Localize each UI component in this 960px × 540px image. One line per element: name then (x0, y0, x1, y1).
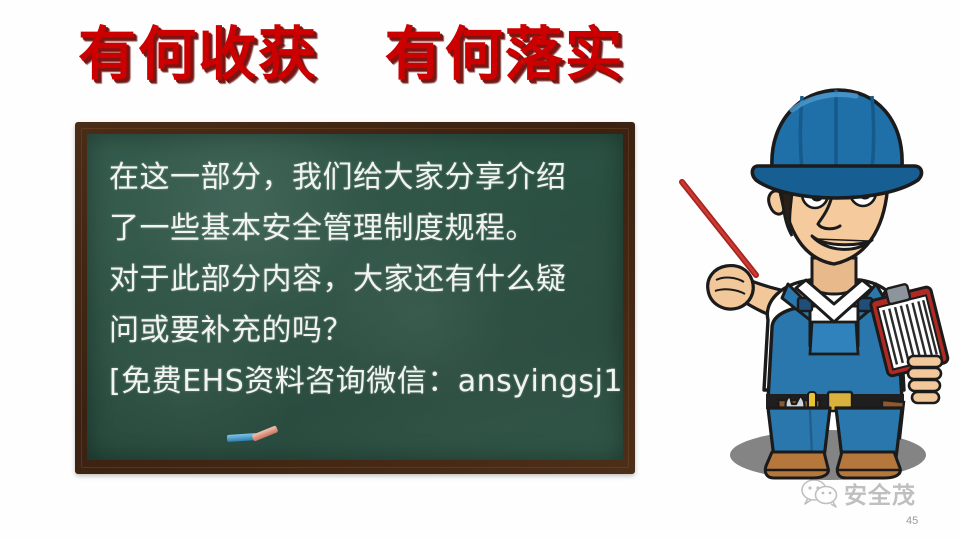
wechat-icon (800, 478, 840, 508)
blackboard-frame: 在这一部分，我们给大家分享介绍 了一些基本安全管理制度规程。 对于此部分内容，大… (75, 122, 635, 474)
board-line-2: 了一些基本安全管理制度规程。 (109, 203, 611, 254)
blackboard-text: 在这一部分，我们给大家分享介绍 了一些基本安全管理制度规程。 对于此部分内容，大… (109, 152, 611, 407)
watermark: 安全茂 (800, 476, 916, 510)
blackboard-surface: 在这一部分，我们给大家分享介绍 了一些基本安全管理制度规程。 对于此部分内容，大… (87, 134, 623, 460)
board-line-3: 对于此部分内容，大家还有什么疑 (109, 254, 611, 305)
board-line-5: [免费EHS资料咨询微信：ansyingsj1] (109, 356, 611, 407)
safety-worker-illustration (660, 70, 960, 490)
page-number: 45 (906, 515, 918, 527)
board-line-1: 在这一部分，我们给大家分享介绍 (109, 152, 611, 203)
watermark-label: 安全茂 (844, 476, 916, 510)
board-line-4: 问或要补充的吗？ (109, 305, 611, 356)
pink-chalk-icon (252, 425, 279, 441)
slide-canvas: 有何收获 有何落实 在这一部分，我们给大家分享介绍 了一些基本安全管理制度规程。… (0, 0, 960, 540)
page-title: 有何收获 有何落实 (78, 20, 625, 90)
